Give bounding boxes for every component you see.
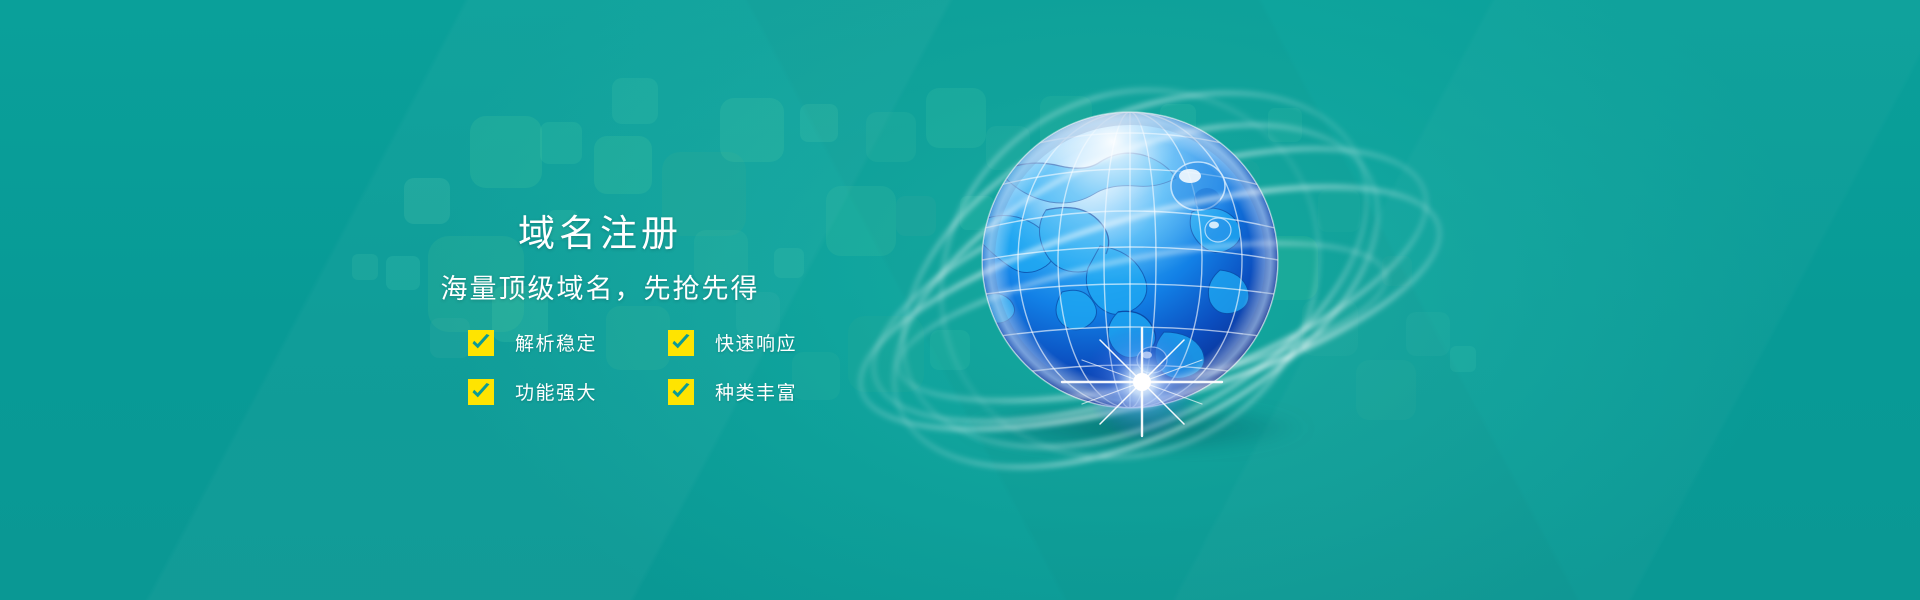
mosaic-square (1302, 300, 1358, 356)
mosaic-square (960, 196, 994, 230)
check-square-icon (468, 379, 494, 405)
mosaic-square (930, 330, 970, 370)
mosaic-square (1160, 104, 1196, 140)
banner-text-block: 域名注册 海量顶级域名，先抢先得 解析稳定 (380, 215, 820, 405)
page-subtitle: 海量顶级域名，先抢先得 (380, 276, 820, 303)
mosaic-square (800, 104, 838, 142)
page-title: 域名注册 (380, 215, 820, 252)
mosaic-square (896, 196, 936, 236)
feature-item-0: 解析稳定 (468, 329, 668, 356)
mosaic-square (1406, 312, 1450, 356)
check-square-icon (468, 330, 494, 356)
feature-item-1: 快速响应 (668, 329, 843, 356)
mosaic-square (1268, 108, 1302, 142)
mosaic-square (1094, 140, 1156, 202)
mosaic-square (1382, 256, 1412, 286)
mosaic-square (826, 186, 896, 256)
mosaic-square (540, 122, 582, 164)
feature-label: 种类丰富 (715, 378, 797, 405)
feature-list: 解析稳定 快速响应 功能强大 (468, 329, 820, 405)
mosaic-square (986, 126, 1030, 170)
feature-label: 解析稳定 (515, 329, 597, 356)
mosaic-square (720, 98, 784, 162)
feature-item-3: 种类丰富 (668, 378, 843, 405)
mosaic-square (1190, 300, 1226, 336)
feature-label: 功能强大 (515, 378, 597, 405)
mosaic-square (1040, 96, 1092, 148)
mosaic-square (848, 316, 924, 392)
check-square-icon (668, 330, 694, 356)
mosaic-square (594, 136, 652, 194)
check-square-icon (668, 379, 694, 405)
mosaic-square (470, 116, 542, 188)
mosaic-square (1318, 190, 1360, 232)
mosaic-square (926, 88, 986, 148)
mosaic-square (1356, 360, 1416, 420)
domain-registration-banner: 域名注册 海量顶级域名，先抢先得 解析稳定 (0, 0, 1920, 600)
feature-item-2: 功能强大 (468, 378, 668, 405)
mosaic-square (612, 78, 658, 124)
feature-label: 快速响应 (715, 329, 797, 356)
mosaic-square (866, 112, 916, 162)
mosaic-square (352, 254, 378, 280)
mosaic-square (1254, 236, 1318, 300)
mosaic-square (1206, 160, 1260, 214)
mosaic-square (1450, 346, 1476, 372)
mosaic-square (1132, 206, 1180, 254)
